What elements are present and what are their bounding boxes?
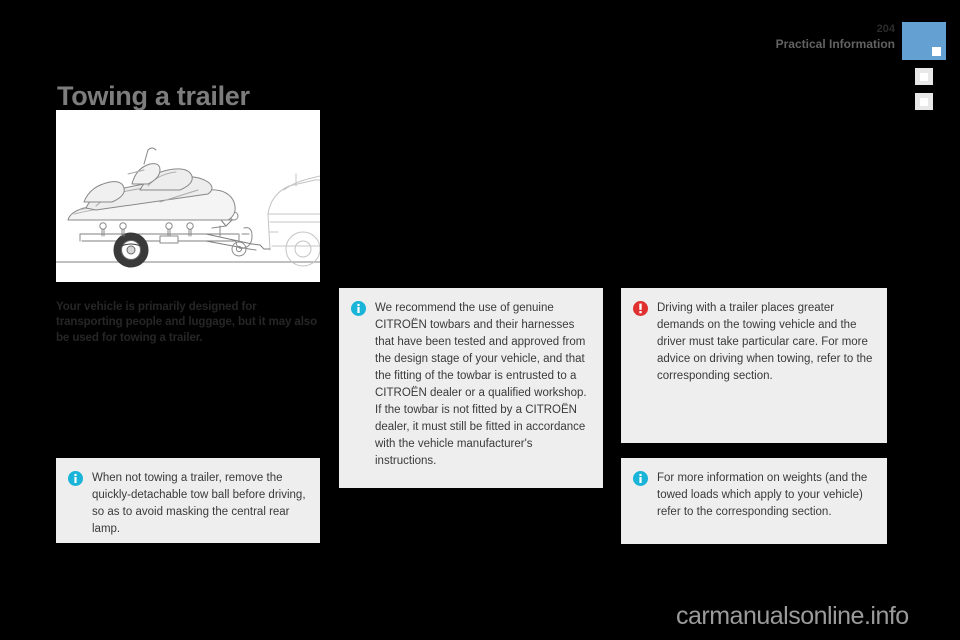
page-number: 204: [776, 24, 895, 35]
tab-square-icon: [932, 47, 941, 56]
info-icon: [633, 471, 648, 486]
tab-inactive-1[interactable]: [915, 68, 933, 85]
warning-icon: [633, 301, 648, 316]
page-title: Towing a trailer: [57, 81, 250, 112]
callout-text: For more information on weights (and the…: [657, 470, 873, 521]
column-right: Driving with a trailer places greater de…: [621, 288, 887, 544]
section-tab-strip[interactable]: [902, 22, 946, 110]
info-icon: [68, 471, 83, 486]
callout-weights-information: For more information on weights (and the…: [621, 458, 887, 544]
callout-driving-warning: Driving with a trailer places greater de…: [621, 288, 887, 443]
callout-tow-ball-removal: When not towing a trailer, remove the qu…: [56, 458, 320, 543]
watermark: carmanualsonline.info: [676, 602, 909, 631]
callout-text: We recommend the use of genuine CITROËN …: [375, 300, 589, 470]
tab-active-practical-information[interactable]: [902, 22, 946, 60]
callout-text: Driving with a trailer places greater de…: [657, 300, 873, 385]
tab-square-icon: [920, 98, 928, 106]
page-header: 204 Practical Information: [776, 24, 895, 50]
tab-inactive-2[interactable]: [915, 93, 933, 110]
callout-text: When not towing a trailer, remove the qu…: [92, 470, 306, 538]
column-left: Your vehicle is primarily designed for t…: [56, 288, 320, 543]
column-middle: We recommend the use of genuine CITROËN …: [339, 288, 603, 488]
towing-illustration: [56, 110, 320, 282]
callout-genuine-towbars: We recommend the use of genuine CITROËN …: [339, 288, 603, 488]
intro-paragraph: Your vehicle is primarily designed for t…: [56, 300, 320, 347]
section-name: Practical Information: [776, 38, 895, 50]
tab-square-icon: [920, 73, 928, 81]
info-icon: [351, 301, 366, 316]
